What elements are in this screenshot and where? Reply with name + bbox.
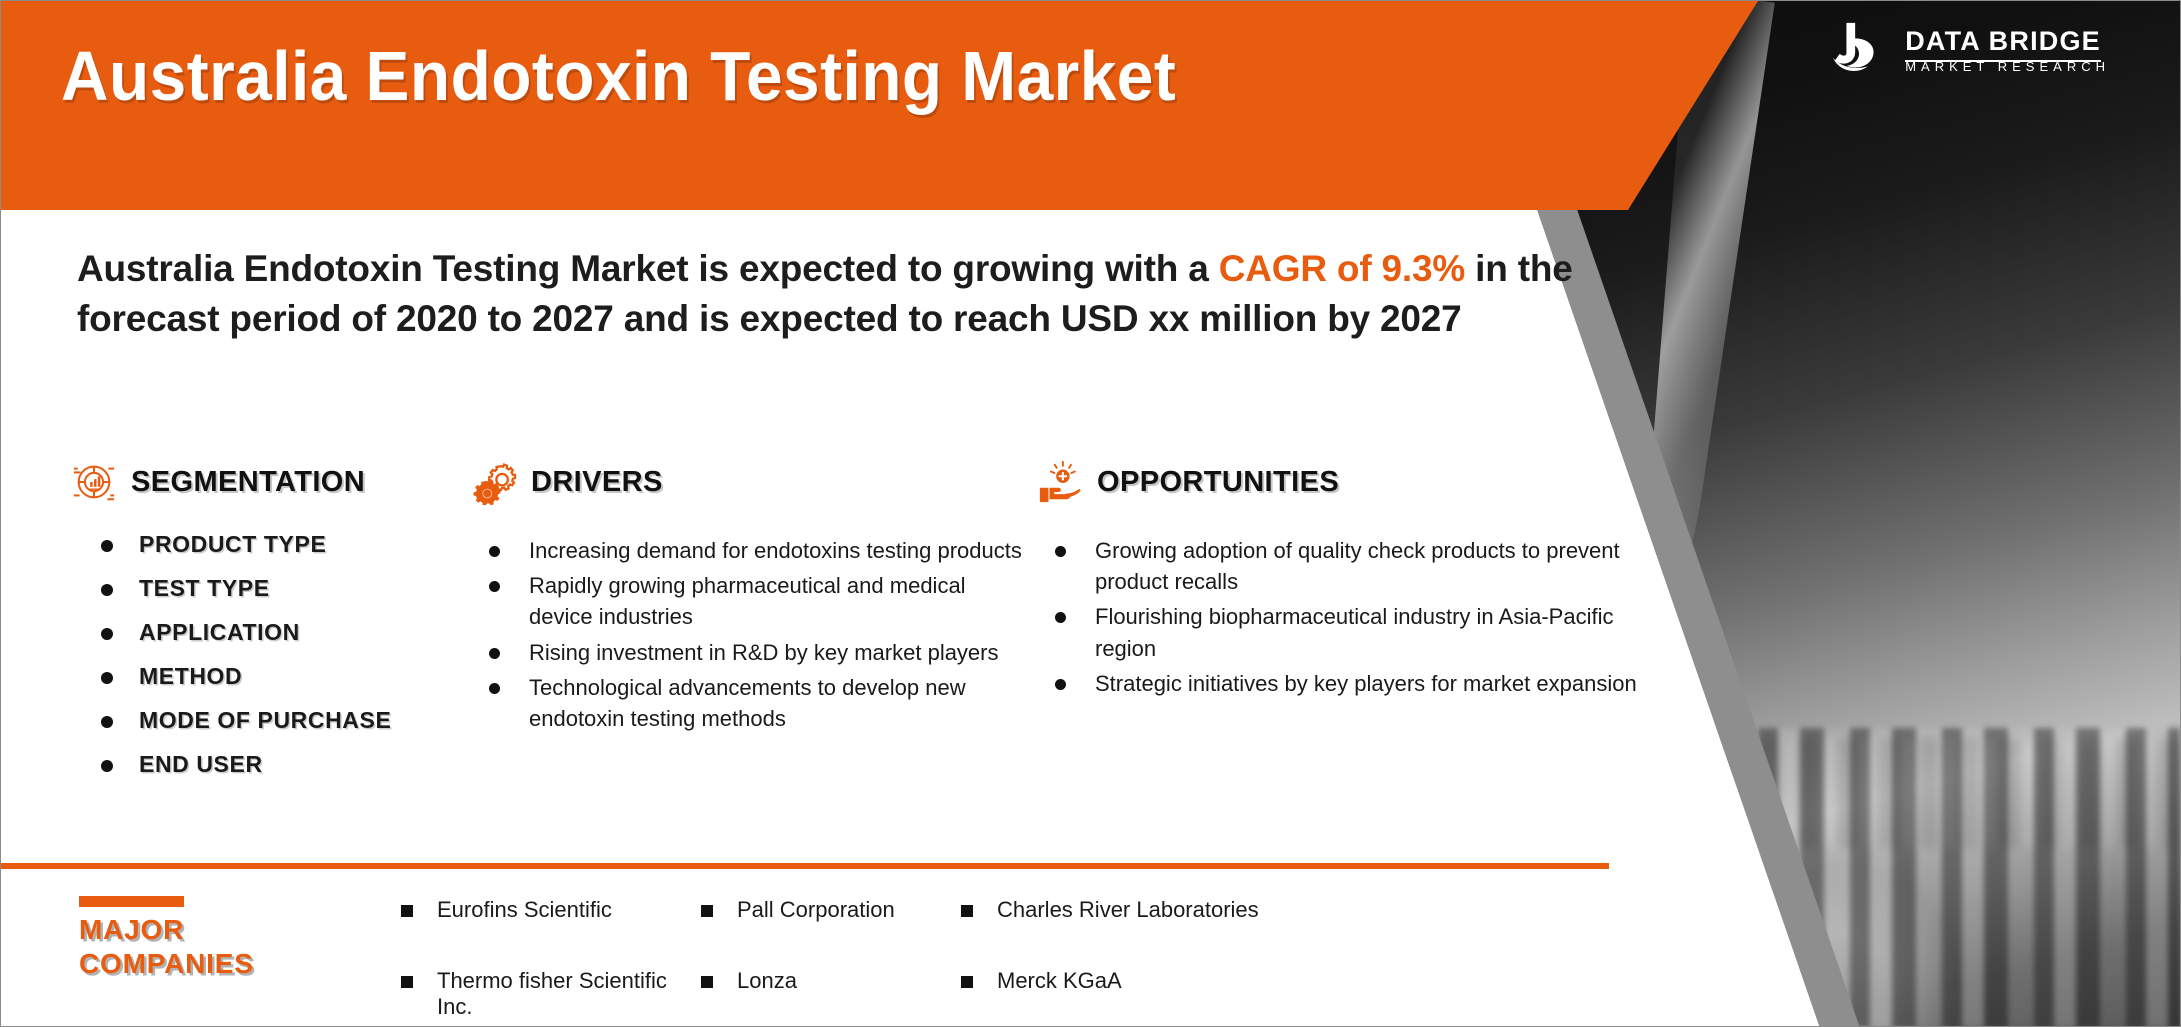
company-item: Thermo fisher Scientific Inc.	[401, 968, 701, 1020]
brand-logo: DATA BRIDGE MARKET RESEARCH	[1829, 19, 2110, 81]
segmentation-title: SEGMENTATION	[131, 466, 365, 499]
list-item: TEST TYPE	[101, 575, 471, 602]
companies-row: Eurofins Scientific Pall Corporation Cha…	[401, 897, 1601, 923]
company-item: Charles River Laboratories	[961, 897, 1281, 923]
page-title: Australia Endotoxin Testing Market	[61, 41, 1176, 111]
market-summary-statement: Australia Endotoxin Testing Market is ex…	[77, 244, 1637, 343]
gears-icon	[471, 459, 517, 505]
company-item: Pall Corporation	[701, 897, 961, 923]
opportunities-title: OPPORTUNITIES	[1097, 466, 1339, 499]
list-item: END USER	[101, 751, 471, 778]
logo-name: DATA BRIDGE	[1905, 26, 2101, 62]
company-item: Eurofins Scientific	[401, 897, 701, 923]
list-item: METHOD	[101, 663, 471, 690]
major-line-1: MAJOR	[79, 913, 254, 947]
drivers-header: DRIVERS	[471, 451, 1031, 513]
major-companies-accent-bar	[79, 896, 184, 907]
hand-holding-plus-icon	[1037, 459, 1083, 505]
opportunities-header: OPPORTUNITIES	[1037, 451, 1657, 513]
summary-part-1: Australia Endotoxin Testing Market is ex…	[77, 248, 1219, 289]
major-companies-list: Eurofins Scientific Pall Corporation Cha…	[401, 897, 1601, 1020]
footer-divider	[1, 863, 1609, 869]
list-item: APPLICATION	[101, 619, 471, 646]
list-item: MODE OF PURCHASE	[101, 707, 471, 734]
list-item: Rapidly growing pharmaceutical and medic…	[489, 570, 1031, 632]
databridge-b-logo-icon	[1829, 19, 1891, 81]
column-opportunities: OPPORTUNITIES Growing adoption of qualit…	[1037, 451, 1657, 703]
pie-chart-analytics-icon	[71, 459, 117, 505]
logo-tagline: MARKET RESEARCH	[1905, 60, 2110, 73]
drivers-list: Increasing demand for endotoxins testing…	[489, 535, 1031, 734]
column-segmentation: SEGMENTATION PRODUCT TYPE TEST TYPE APPL…	[71, 451, 471, 795]
company-item: Merck KGaA	[961, 968, 1281, 1020]
list-item: Technological advancements to develop ne…	[489, 672, 1031, 734]
liquid-droplet	[1624, 773, 1660, 807]
drivers-title: DRIVERS	[531, 466, 663, 499]
segmentation-header: SEGMENTATION	[71, 451, 471, 513]
list-item: Increasing demand for endotoxins testing…	[489, 535, 1031, 566]
major-companies-label: MAJOR COMPANIES	[79, 896, 254, 981]
opportunities-list: Growing adoption of quality check produc…	[1055, 535, 1657, 699]
list-item: Strategic initiatives by key players for…	[1055, 668, 1657, 699]
list-item: Growing adoption of quality check produc…	[1055, 535, 1657, 597]
logo-wordmark: DATA BRIDGE MARKET RESEARCH	[1905, 28, 2110, 73]
list-item: PRODUCT TYPE	[101, 531, 471, 558]
company-item: Lonza	[701, 968, 961, 1020]
column-drivers: DRIVERS Increasing demand for endotoxins…	[471, 451, 1031, 738]
list-item: Flourishing biopharmaceutical industry i…	[1055, 601, 1657, 663]
major-line-2: COMPANIES	[79, 947, 254, 981]
segmentation-list: PRODUCT TYPE TEST TYPE APPLICATION METHO…	[101, 531, 471, 778]
cagr-highlight: CAGR of 9.3%	[1219, 248, 1465, 289]
infographic-poster: Australia Endotoxin Testing Market DATA …	[0, 0, 2181, 1027]
major-companies-text: MAJOR COMPANIES	[79, 913, 254, 981]
list-item: Rising investment in R&D by key market p…	[489, 637, 1031, 668]
companies-row: Thermo fisher Scientific Inc. Lonza Merc…	[401, 968, 1601, 1020]
